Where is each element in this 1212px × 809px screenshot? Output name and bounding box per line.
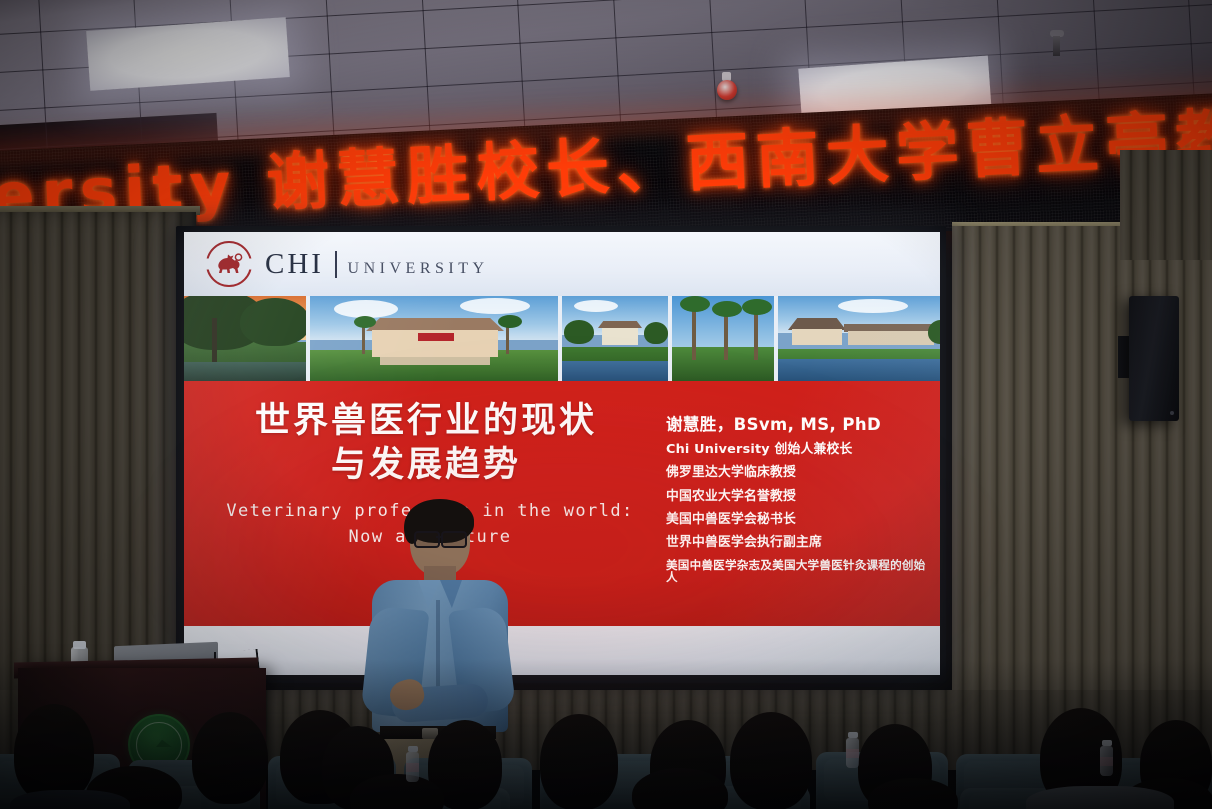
smoke-detector-icon xyxy=(717,80,737,100)
slide-red-body: 世界兽医行业的现状 与发展趋势 Veterinary profession in… xyxy=(184,381,940,626)
water-bottle xyxy=(406,752,419,782)
photo-campus-trees-sunset xyxy=(184,296,306,381)
campus-photo-strip xyxy=(184,296,940,381)
eyeglasses-icon xyxy=(414,531,470,544)
water-bottle xyxy=(846,738,859,768)
logo-wordmark: CHI UNIVERSITY xyxy=(265,248,489,281)
slide-header: CHI UNIVERSITY xyxy=(184,232,940,296)
bio-line: 世界中兽医学会执行副主席 xyxy=(666,537,928,550)
audience-head xyxy=(192,712,268,804)
lecture-hall-photo: ersity 谢慧胜校长、西南大学曹立亭教授 一行莅临我 CHI UN xyxy=(0,0,1212,809)
bio-line: 美国中兽医学会秘书长 xyxy=(666,514,928,527)
chi-university-logo-icon xyxy=(206,241,252,287)
logo-university-text: UNIVERSITY xyxy=(348,260,489,278)
wall-mounted-loudspeaker xyxy=(1129,296,1179,421)
qilin-emblem-icon xyxy=(214,252,244,276)
eyeglass-bridge xyxy=(436,536,441,538)
photo-campus-main-building xyxy=(310,296,558,381)
slide-title-line2: 与发展趋势 xyxy=(226,443,626,487)
photo-campus-pavilion-lake xyxy=(778,296,940,381)
logo-chi-text: CHI xyxy=(265,248,324,281)
logo-divider xyxy=(335,251,337,278)
slide-title-line1: 世界兽医行业的现状 xyxy=(226,399,626,443)
audience-head xyxy=(730,712,812,809)
eyeglass-lens-right xyxy=(441,531,467,548)
photo-campus-palm-trees xyxy=(672,296,774,381)
presentation-slide: CHI UNIVERSITY xyxy=(184,232,940,675)
loudspeaker-indicator-led xyxy=(1170,411,1174,415)
bio-line: 中国农业大学名誉教授 xyxy=(666,491,928,504)
speaker-bio-block: 谢慧胜，BSvm, MS, PhD Chi University 创始人兼校长 … xyxy=(666,411,928,594)
audience-head xyxy=(540,714,618,809)
slide-title-chinese: 世界兽医行业的现状 与发展趋势 xyxy=(226,399,626,487)
audience-head xyxy=(14,704,94,802)
audience-shoulders xyxy=(1026,786,1174,809)
photo-campus-lake-house xyxy=(562,296,668,381)
bio-line: 美国中兽医学杂志及美国大学兽医针灸课程的创始人 xyxy=(666,560,928,583)
sprinkler-head-icon xyxy=(1053,36,1060,56)
seated-audience xyxy=(0,682,1212,809)
speaker-name: 谢慧胜，BSvm, MS, PhD xyxy=(666,411,928,435)
wood-slat-wall-top-right xyxy=(1120,150,1212,260)
bio-line: Chi University 创始人兼校长 xyxy=(666,444,928,457)
eyeglass-lens-left xyxy=(414,531,440,548)
slide-footer-band xyxy=(184,626,940,675)
audience-shoulders xyxy=(10,790,130,809)
water-bottle xyxy=(1100,746,1113,776)
bio-line: 佛罗里达大学临床教授 xyxy=(666,467,928,480)
